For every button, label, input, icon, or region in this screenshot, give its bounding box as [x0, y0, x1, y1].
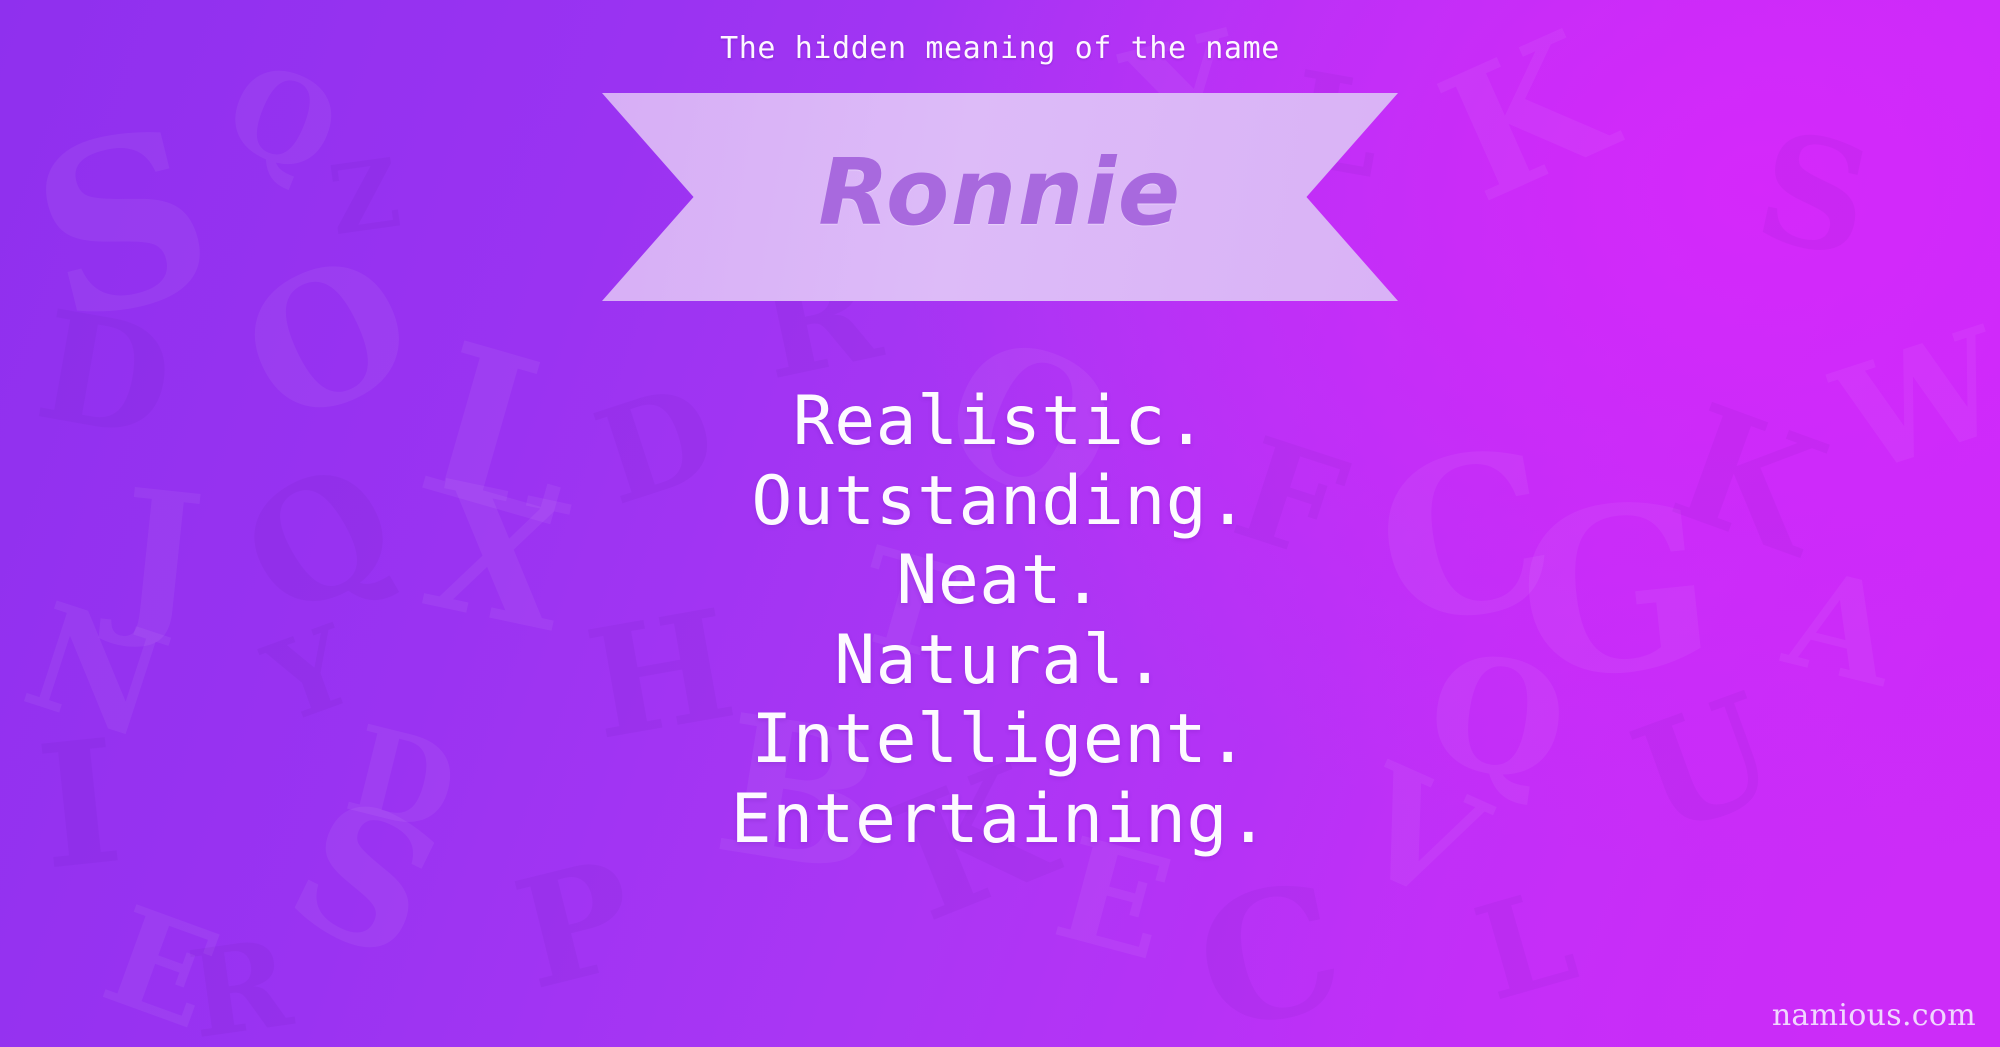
watermark-letter: C	[1183, 857, 1356, 1047]
meaning-line: Entertaining.	[0, 780, 2000, 860]
meaning-line: Intelligent.	[0, 700, 2000, 780]
site-watermark: namious.com	[1772, 998, 1976, 1033]
meaning-line: Outstanding.	[0, 462, 2000, 542]
page-title: The hidden meaning of the name	[0, 31, 2000, 66]
meaning-line: Neat.	[0, 541, 2000, 621]
meaning-line: Natural.	[0, 621, 2000, 701]
meaning-line: Realistic.	[0, 382, 2000, 462]
watermark-letter: E	[90, 886, 233, 1047]
watermark-letter: Q	[211, 45, 353, 195]
meaning-list: Realistic.Outstanding.Neat.Natural.Intel…	[0, 382, 2000, 859]
watermark-letter: S	[15, 93, 232, 356]
watermark-letter: Z	[324, 146, 406, 250]
name-meaning-card: SQZDOLDJQXHNYDISPERBKECVLQCFGKWSKLYORTUA…	[0, 0, 2000, 1047]
name-ribbon-banner: Ronnie	[602, 93, 1398, 301]
watermark-letter: R	[182, 924, 297, 1047]
name-text: Ronnie	[602, 93, 1398, 301]
watermark-letter: S	[1746, 110, 1883, 279]
watermark-letter: P	[504, 839, 650, 1012]
watermark-letter: L	[1464, 870, 1588, 1020]
